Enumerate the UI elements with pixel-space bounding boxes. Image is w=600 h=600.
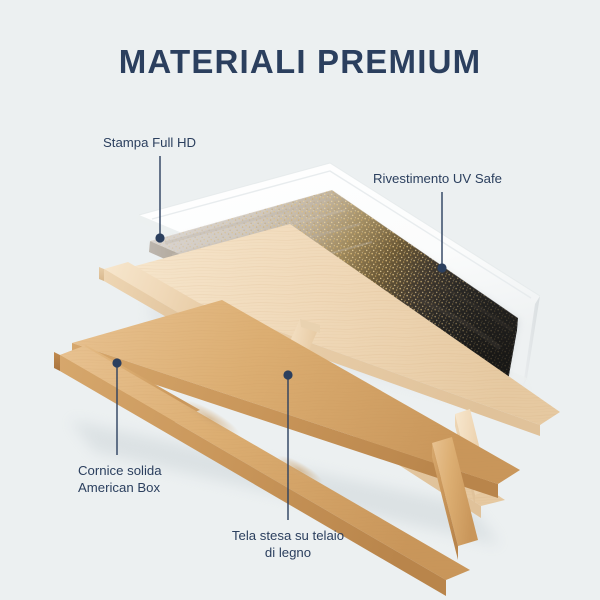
page-title: MATERIALI PREMIUM [0, 42, 600, 82]
callout-dot-tela-stesa-su-telaio-di-legno [283, 370, 292, 379]
callout-dot-cornice-solida-american-box [112, 358, 121, 367]
callout-dot-rivestimento-uv-safe [437, 263, 446, 272]
callout-dot-stampa-full-hd [155, 233, 164, 242]
callout-label-rivestimento-uv-safe: Rivestimento UV Safe [373, 170, 502, 187]
illustration-stage: MATERIALI PREMIUM Stampa Full HD Rivesti… [0, 0, 600, 600]
callout-label-tela-stesa-su-telaio-di-legno: Tela stesa su telaio di legno [188, 527, 388, 561]
product-exploded-illustration [0, 0, 600, 600]
callout-label-cornice-solida-american-box: Cornice solida American Box [78, 462, 162, 496]
callout-label-stampa-full-hd: Stampa Full HD [103, 134, 196, 151]
